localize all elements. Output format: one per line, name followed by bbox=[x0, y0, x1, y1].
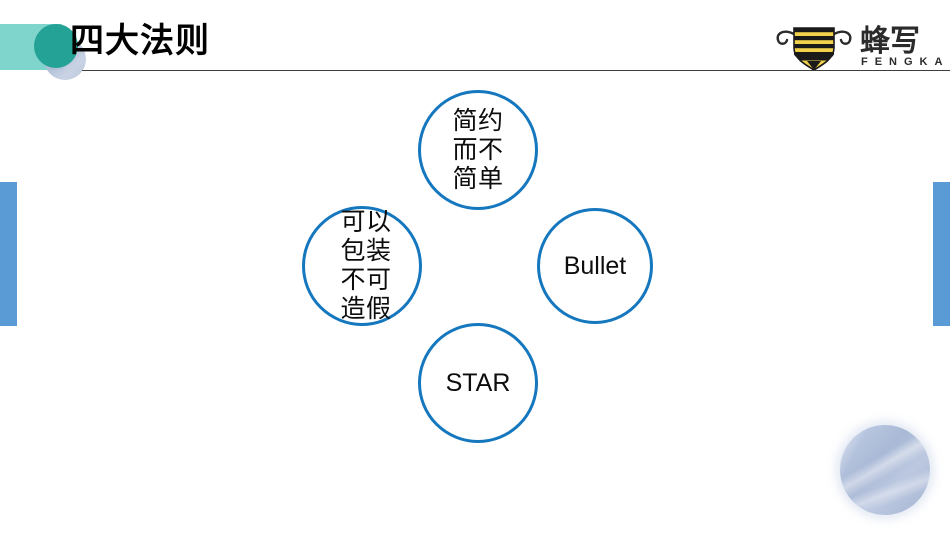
diagram-bubble-right-label: Bullet bbox=[564, 252, 627, 281]
title-divider bbox=[82, 70, 950, 71]
diagram-bubble-bottom[interactable]: STAR bbox=[418, 323, 538, 443]
marble-circle-shape bbox=[840, 425, 930, 515]
bee-antenna-left bbox=[778, 32, 794, 44]
logo-brand-cn: 蜂写 bbox=[860, 25, 920, 58]
brand-logo: 蜂写 FENGKAO bbox=[760, 14, 950, 70]
left-accent-bar bbox=[0, 182, 17, 326]
bee-antenna-right bbox=[834, 32, 850, 44]
diagram-bubble-right[interactable]: Bullet bbox=[537, 208, 653, 324]
bee-icon bbox=[794, 28, 834, 70]
diagram-bubble-left[interactable]: 可以 包装 不可 造假 bbox=[302, 206, 422, 326]
logo-brand-en: FENGKAO bbox=[861, 56, 950, 68]
right-accent-bar bbox=[933, 182, 950, 326]
diagram-bubble-top-label: 简约 而不 简单 bbox=[452, 107, 503, 194]
slide-canvas: 四大法则 蜂写 FENGKAO bbox=[0, 0, 950, 535]
page-title: 四大法则 bbox=[70, 19, 210, 63]
diagram-bubble-left-label: 可以 包装 不可 造假 bbox=[340, 208, 391, 324]
diagram-bubble-bottom-label: STAR bbox=[446, 369, 511, 398]
diagram-bubble-top[interactable]: 简约 而不 简单 bbox=[418, 90, 538, 210]
